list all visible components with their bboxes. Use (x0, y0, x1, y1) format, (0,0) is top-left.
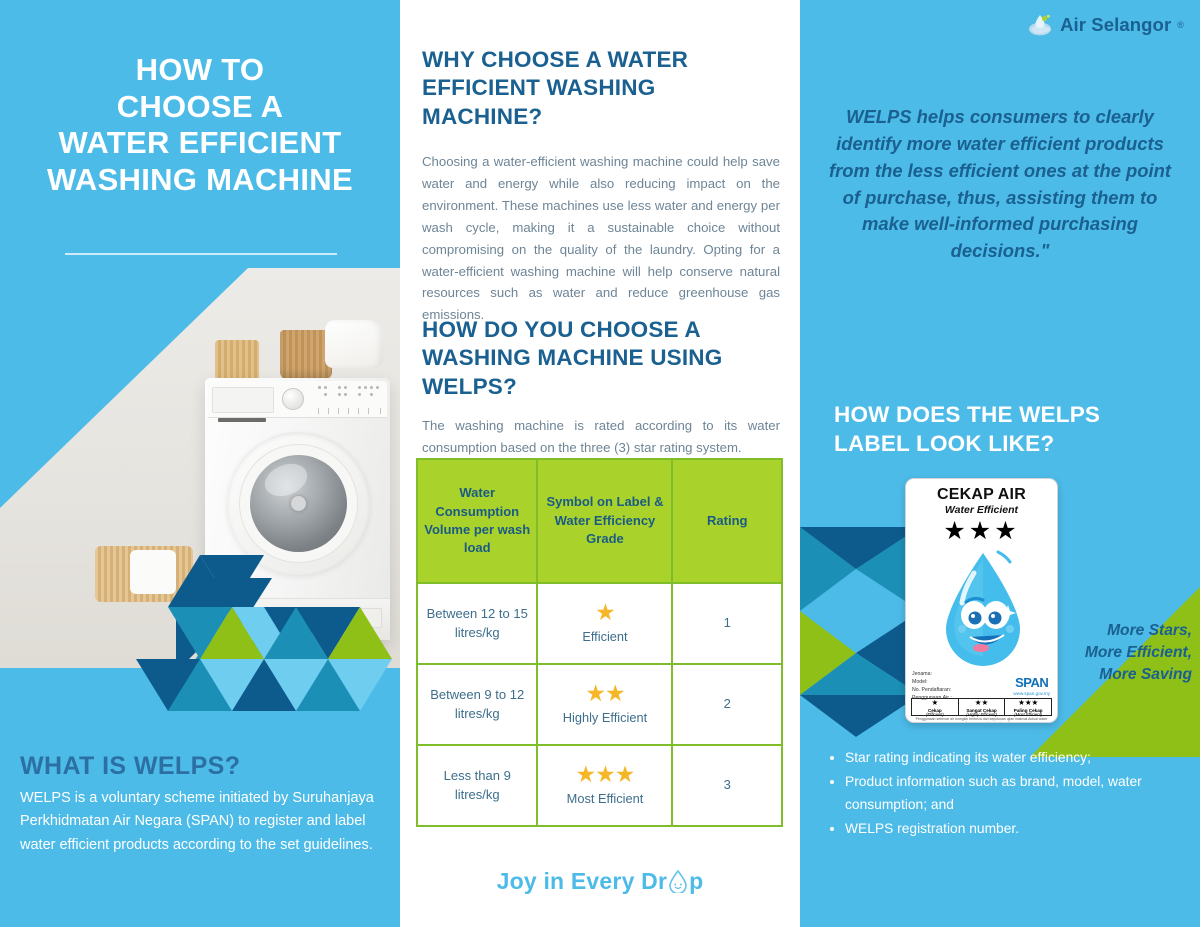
table-row: Between 9 to 12 litres/kg ★★ Highly Effi… (417, 664, 782, 745)
how-choose-heading: HOW DO YOU CHOOSE A WASHING MACHINE USIN… (422, 316, 780, 401)
title-line-2: CHOOSE A (16, 89, 384, 126)
cell-rating: 1 (672, 583, 782, 664)
table-header-row: Water Consumption Volume per wash load S… (417, 459, 782, 583)
how-choose-body: The washing machine is rated according t… (422, 415, 780, 459)
water-droplet-logo-icon (1028, 13, 1054, 37)
label-features-list: Star rating indicating its water efficie… (845, 747, 1165, 842)
label-star-rating: ★★★ (906, 519, 1057, 544)
footer-tagline-post: p (689, 868, 703, 894)
what-is-welps-heading: WHAT IS WELPS? (20, 752, 390, 781)
welps-quote: WELPS helps consumers to clearly identif… (822, 104, 1178, 265)
cell-symbol: ★★ Highly Efficient (537, 664, 672, 745)
label-field-brand: Jenama: (912, 670, 952, 678)
washer-panel-ticks (318, 408, 384, 416)
how-choose-section: HOW DO YOU CHOOSE A WASHING MACHINE USIN… (422, 316, 780, 459)
label-grade-cell: ★ Cekap (Efficient) (912, 699, 959, 715)
brand-logo: Air Selangor® (1028, 13, 1184, 37)
label-title: CEKAP AIR (906, 486, 1057, 504)
label-authority-name: SPAN (1013, 675, 1050, 690)
center-column: WHY CHOOSE A WATER EFFICIENT WASHING MAC… (400, 0, 800, 927)
infographic-page: HOW TO CHOOSE A WATER EFFICIENT WASHING … (0, 0, 1200, 927)
label-grade-cell: ★★★ Paling Cekap (Most Efficient) (1005, 699, 1051, 715)
label-grade-stars-3: ★★★ (1005, 699, 1051, 708)
footer-tagline-pre: Joy in Every Dr (497, 868, 667, 894)
washer-drawer-slot (218, 418, 266, 422)
label-authority: SPAN www.span.gov.my (1013, 675, 1050, 696)
list-item: Product information such as brand, model… (845, 771, 1165, 816)
table-row: Between 12 to 15 litres/kg ★ Efficient 1 (417, 583, 782, 664)
cell-consumption: Less than 9 litres/kg (417, 745, 537, 826)
brand-name: Air Selangor (1060, 14, 1171, 36)
brand-trademark: ® (1177, 20, 1184, 30)
more-stars-tagline: More Stars, More Efficient, More Saving (1080, 620, 1192, 686)
col-header-consumption: Water Consumption Volume per wash load (417, 459, 537, 583)
col-header-rating: Rating (672, 459, 782, 583)
cell-symbol: ★★★ Most Efficient (537, 745, 672, 826)
washer-detergent-drawer (212, 387, 274, 413)
label-field-regno: No. Pendaftaran: (912, 686, 952, 694)
welps-label-card: CEKAP AIR Water Efficient ★★★ (905, 478, 1058, 723)
title-line-4: WASHING MACHINE (16, 162, 384, 199)
grade-label-3: Most Efficient (567, 791, 644, 806)
grade-label-2: Highly Efficient (563, 710, 647, 725)
grade-label-1: Efficient (582, 629, 627, 644)
label-footnote: Penggunaan sebenar air mungkin berbeza d… (911, 717, 1052, 723)
rating-table: Water Consumption Volume per wash load S… (416, 458, 783, 827)
list-item: WELPS registration number. (845, 818, 1165, 840)
label-grade-grid: ★ Cekap (Efficient) ★★ Sangat Cekap (Hig… (911, 698, 1052, 716)
cell-consumption: Between 9 to 12 litres/kg (417, 664, 537, 745)
label-authority-url: www.span.gov.my (1013, 691, 1050, 696)
washer-drum-hub (291, 496, 306, 511)
washer-indicator-leds (318, 386, 384, 404)
left-column: HOW TO CHOOSE A WATER EFFICIENT WASHING … (0, 0, 400, 927)
title-line-3: WATER EFFICIENT (16, 125, 384, 162)
label-grade-cell: ★★ Sangat Cekap (Highly Efficient) (959, 699, 1006, 715)
title-divider (65, 253, 337, 255)
washer-program-knob (282, 388, 304, 410)
table-row: Less than 9 litres/kg ★★★ Most Efficient… (417, 745, 782, 826)
footer-tagline: Joy in Every Dr p (400, 868, 800, 895)
smiling-water-drop-icon (668, 870, 688, 893)
why-choose-section: WHY CHOOSE A WATER EFFICIENT WASHING MAC… (422, 46, 780, 326)
label-field-model: Model: (912, 678, 952, 686)
cell-symbol: ★ Efficient (537, 583, 672, 664)
what-is-welps-body: WELPS is a voluntary scheme initiated by… (20, 787, 378, 857)
cell-rating: 3 (672, 745, 782, 826)
list-item: Star rating indicating its water efficie… (845, 747, 1165, 769)
page-title: HOW TO CHOOSE A WATER EFFICIENT WASHING … (16, 52, 384, 198)
label-grade-stars-2: ★★ (959, 699, 1005, 708)
smiling-water-drop-mascot-icon (934, 549, 1032, 667)
why-choose-body: Choosing a water-efficient washing machi… (422, 151, 780, 326)
star-rating-2: ★★ (542, 682, 667, 705)
welps-label-heading: HOW DOES THE WELPS LABEL LOOK LIKE? (834, 400, 1174, 459)
col-header-symbol: Symbol on Label & Water Efficiency Grade (537, 459, 672, 583)
star-rating-3: ★★★ (542, 763, 667, 786)
star-rating-1: ★ (542, 601, 667, 624)
towel-top-icon (325, 320, 383, 368)
laundry-basket-small-icon (215, 340, 259, 382)
why-choose-heading: WHY CHOOSE A WATER EFFICIENT WASHING MAC… (422, 46, 780, 131)
title-line-1: HOW TO (16, 52, 384, 89)
cell-rating: 2 (672, 664, 782, 745)
label-grade-stars-1: ★ (912, 699, 958, 708)
label-subtitle: Water Efficient (906, 504, 1057, 516)
cell-consumption: Between 12 to 15 litres/kg (417, 583, 537, 664)
